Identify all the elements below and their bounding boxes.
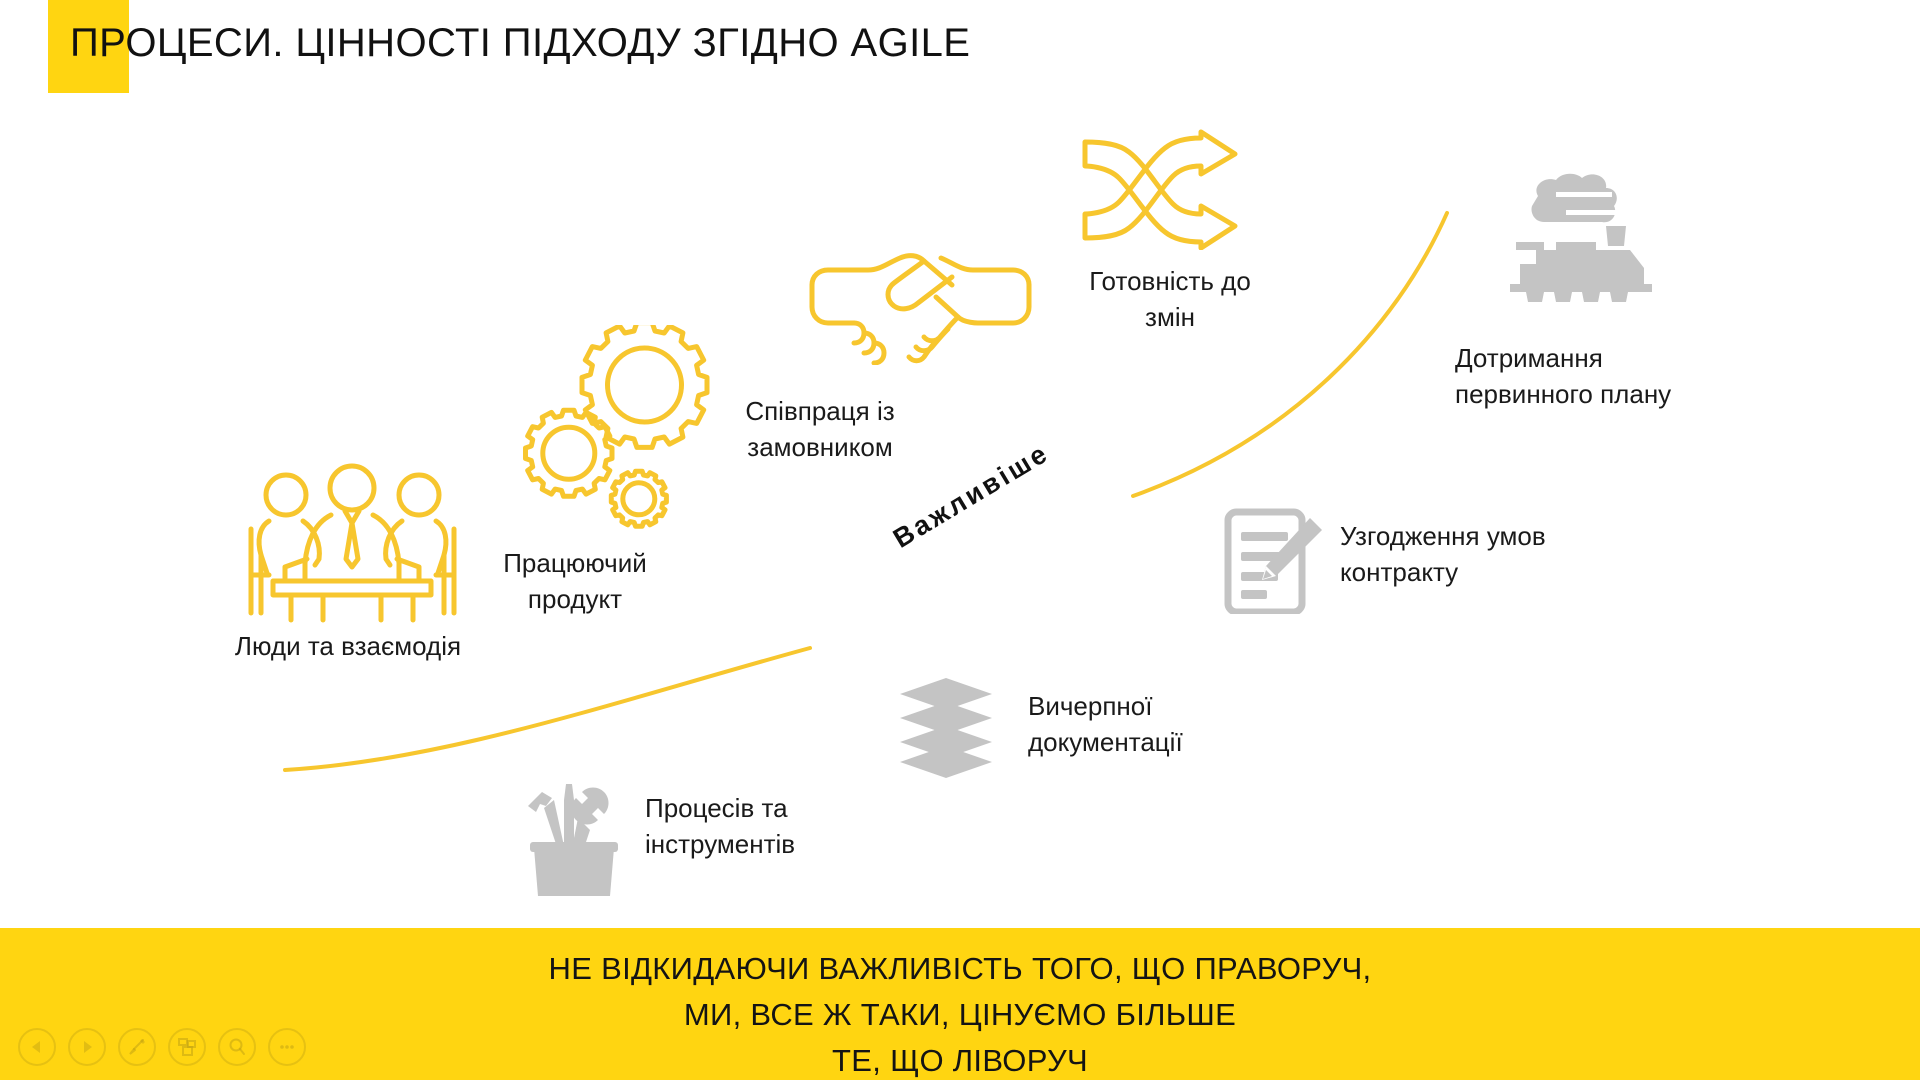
value-label-working-product: Працюючий продукт: [425, 545, 725, 617]
value-label-processes-tools: Процесів та інструментів: [645, 790, 885, 862]
previous-slide-button[interactable]: [18, 1028, 56, 1066]
value-label-contract-negotiation: Узгодження умов контракту: [1340, 518, 1640, 590]
handshake-icon: [808, 245, 1033, 365]
triangle-left-icon: [29, 1039, 45, 1055]
triangle-right-icon: [79, 1039, 95, 1055]
shuffle-arrows-icon: [1063, 128, 1243, 250]
value-label-following-plan: Дотримання первинного плану: [1455, 340, 1795, 412]
more-options-button[interactable]: [268, 1028, 306, 1066]
steam-locomotive-icon: [1510, 172, 1652, 302]
pen-tool-button[interactable]: [118, 1028, 156, 1066]
next-slide-button[interactable]: [68, 1028, 106, 1066]
bottom-banner: НЕ ВІДКИДАЮЧИ ВАЖЛИВІСТЬ ТОГО, ЩО ПРАВОР…: [0, 928, 1920, 1080]
presenter-toolbar: [18, 1028, 306, 1066]
toolbox-icon: [518, 778, 628, 898]
value-label-people-interaction: Люди та взаємодія: [148, 628, 548, 664]
value-label-responding-to-change: Готовність до змін: [1040, 263, 1300, 335]
value-label-comprehensive-documentation: Вичерпної документації: [1028, 688, 1318, 760]
ellipsis-icon: [276, 1036, 298, 1058]
document-stack-icon: [898, 678, 994, 778]
slide-canvas: Люди та взаємодія Працюючий продукт: [0, 0, 1920, 1080]
magnifier-icon: [226, 1036, 248, 1058]
value-label-customer-collaboration: Співпраця із замовником: [680, 393, 960, 465]
all-slides-button[interactable]: [168, 1028, 206, 1066]
pen-icon: [126, 1036, 148, 1058]
slides-grid-icon: [176, 1036, 198, 1058]
contract-signing-icon: [1222, 508, 1326, 614]
zoom-tool-button[interactable]: [218, 1028, 256, 1066]
